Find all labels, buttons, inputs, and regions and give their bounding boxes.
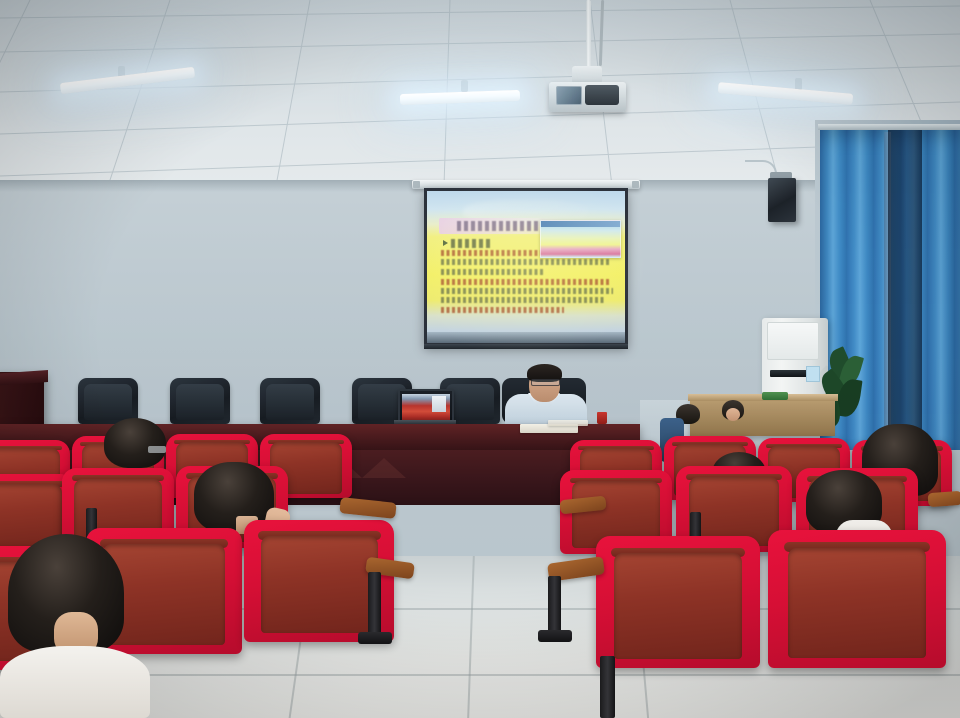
projector-lens-icon [556,86,582,105]
slide-surface [427,191,625,343]
fluorescent-light-center-stem [461,80,468,92]
executive-chair[interactable] [260,378,320,424]
student [104,418,166,468]
slide-inset-titlebar [541,221,620,227]
seat-leg [600,656,615,718]
side-desk-person-face [726,408,740,421]
slide-subheading-text [451,239,491,248]
student-shoulder [0,646,150,718]
lecture-hall-photo [0,0,960,718]
slide-inset-image [540,220,621,258]
seat-foot [358,632,392,644]
projector-mount-pole [586,0,591,70]
executive-chair[interactable] [78,378,138,424]
red-cup[interactable] [597,412,607,424]
wall-speaker [768,178,796,222]
executive-chair[interactable] [170,378,230,424]
projector-body [585,85,619,105]
slide-bullet-arrow-icon [443,240,448,246]
slide-bottom-shadow [427,332,625,343]
projection-screen [424,188,628,346]
papers[interactable] [548,420,588,426]
slide-body-line [441,279,609,285]
desk-item-green [762,392,788,400]
seat-leg [368,572,381,638]
slide-body-line [441,269,544,275]
projection-screen-weight-bar [424,344,628,349]
slide-body-line [441,297,605,303]
glasses-icon [148,446,166,453]
floor-tile-line [467,556,475,718]
window-glass [888,130,922,430]
housing-end-left [413,181,420,188]
seat[interactable] [596,536,760,668]
armrest [928,491,960,507]
curtain-rod [818,124,960,130]
seat-foot [538,630,572,642]
seat-cushion [614,553,742,659]
air-conditioner-panel [767,322,819,360]
housing-end-right [632,181,639,188]
seat-leg [548,576,561,638]
seat-cushion [261,536,378,634]
chevron-ornament [362,458,406,478]
slide-body-line [441,307,564,313]
side-desk [690,398,835,436]
slide-title-text [457,221,544,232]
laptop-screen-content [402,394,450,422]
laptop-screen-highlight [432,396,446,411]
glasses-icon [531,379,560,386]
slide-body-line [441,259,611,265]
slide-body-line [441,288,613,294]
